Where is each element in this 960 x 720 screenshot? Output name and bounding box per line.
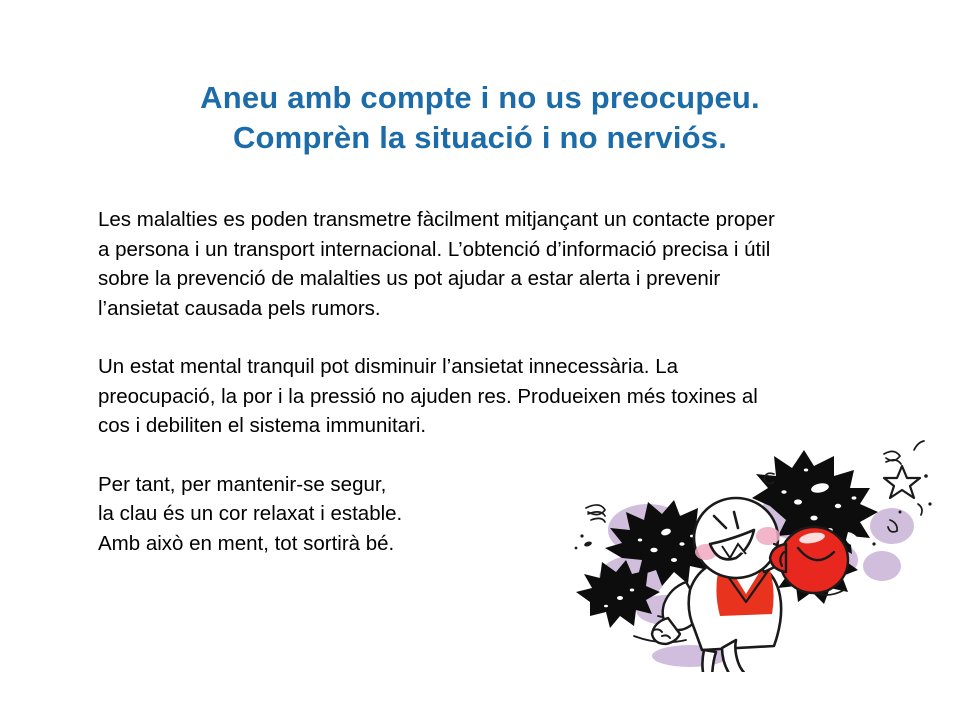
star-icon [884, 466, 920, 498]
paragraph-2-line-2: preocupació, la por i la pressió no ajud… [98, 382, 908, 412]
slide-canvas: Aneu amb compte i no us preocupeu. Compr… [0, 0, 960, 720]
paragraph-2: Un estat mental tranquil pot disminuir l… [98, 352, 908, 441]
paragraph-1: Les malalties es poden transmetre fàcilm… [98, 205, 908, 323]
blush-right [756, 527, 780, 545]
title-line-2: Comprèn la situació i no nerviós. [0, 118, 960, 158]
paragraph-1-line-2: a persona i un transport internacional. … [98, 235, 908, 265]
paragraph-1-line-3: sobre la prevenció de malalties us pot a… [98, 264, 908, 294]
paragraph-1-line-1: Les malalties es poden transmetre fàcilm… [98, 205, 908, 235]
paragraph-2-line-1: Un estat mental tranquil pot disminuir l… [98, 352, 908, 382]
paragraph-2-line-3: cos i debiliten el sistema immunitari. [98, 411, 908, 441]
character-punching-virus-illustration [562, 440, 960, 672]
slide-title: Aneu amb compte i no us preocupeu. Compr… [0, 78, 960, 158]
gi-trousers [702, 650, 716, 672]
title-line-1: Aneu amb compte i no us preocupeu. [0, 78, 960, 118]
paragraph-1-line-4: l’ansietat causada pels rumors. [98, 294, 908, 324]
